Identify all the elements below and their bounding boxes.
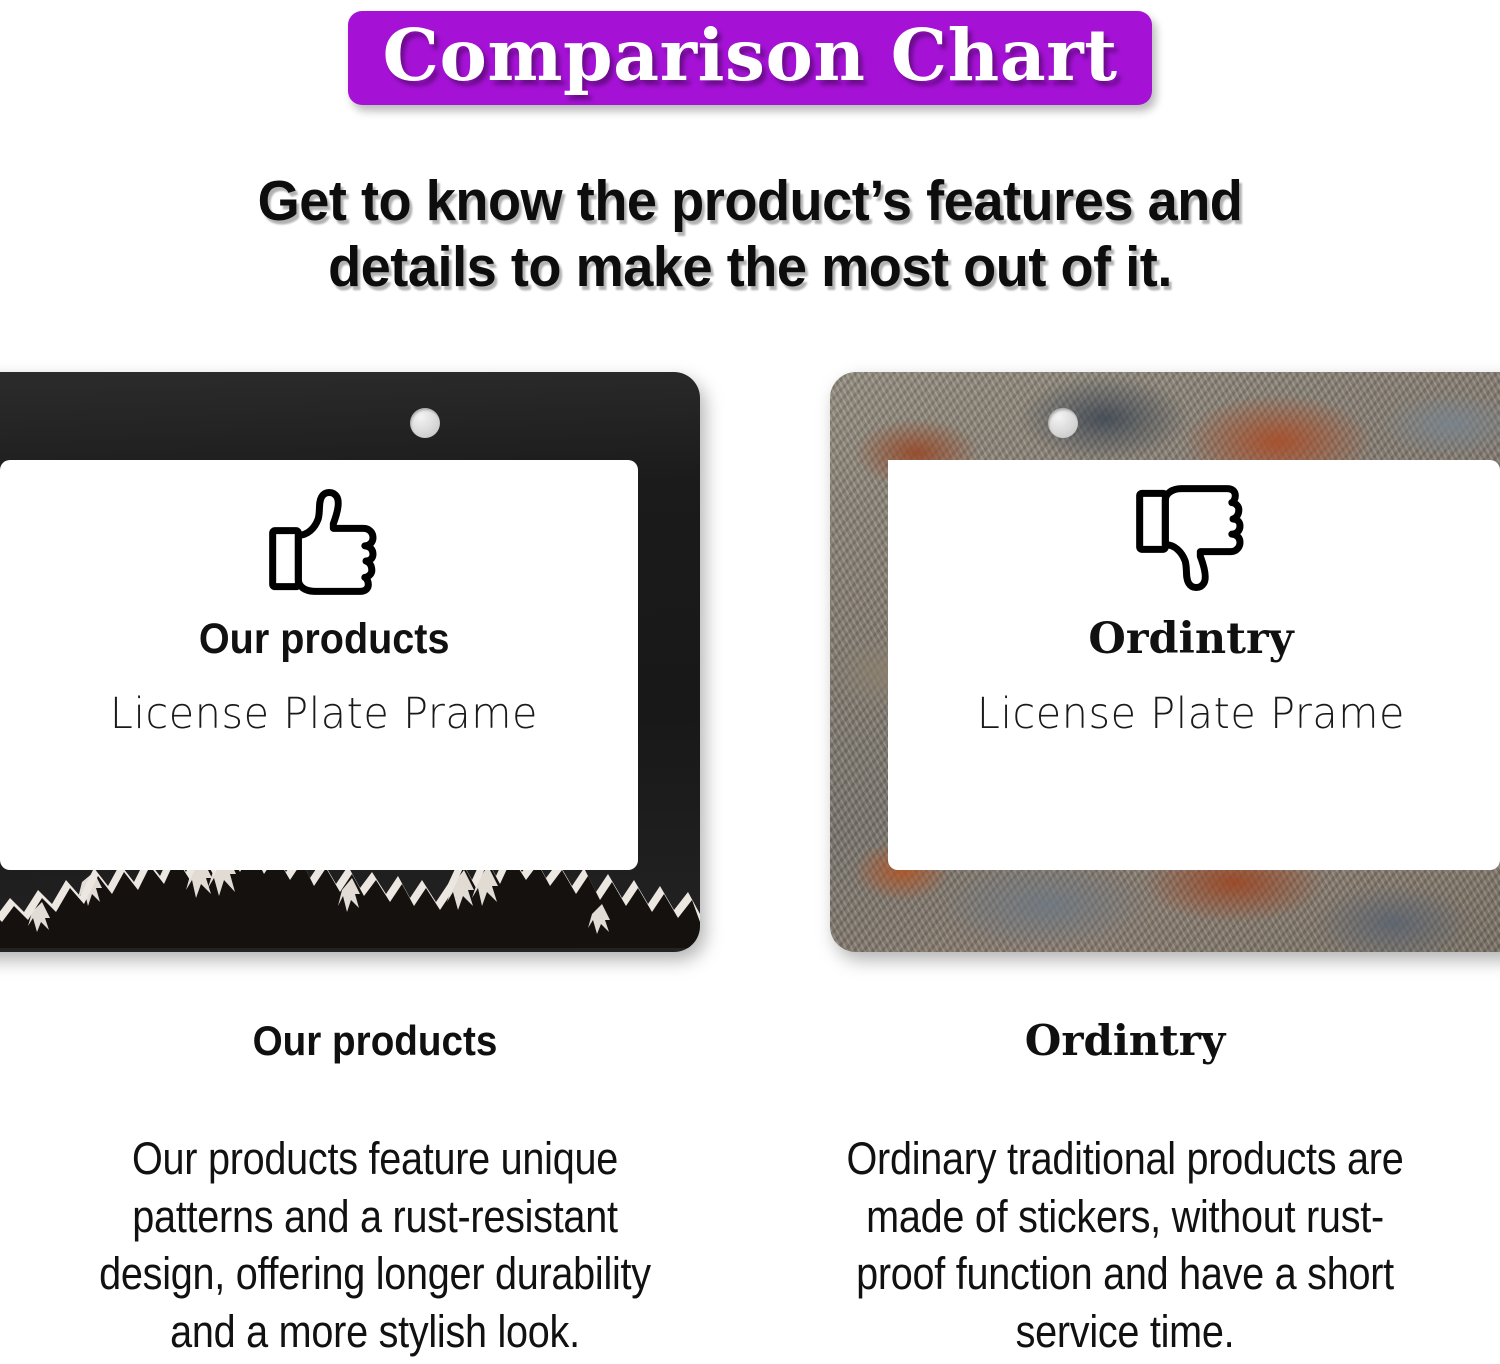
page-title: Comparison Chart [382, 20, 1117, 91]
ordinary-product-column: Ordintry Ordinary traditional products a… [750, 1020, 1500, 1364]
screw-hole [410, 408, 440, 438]
subtitle-line-1: Get to know the product’s features and [38, 168, 1463, 234]
our-product-frame-content: Our products License Plate Prame [0, 460, 700, 870]
product-frames-row: Our products License Plate Prame Ordintr… [0, 372, 1500, 972]
our-product-column-heading: Our products [61, 1020, 688, 1062]
our-product-column-body: Our products feature unique patterns and… [75, 1130, 675, 1360]
our-product-frame: Our products License Plate Prame [0, 372, 700, 952]
ordinary-product-heading: Ordintry [1088, 618, 1293, 661]
subtitle-line-2: details to make the most out of it. [38, 234, 1463, 300]
page-subtitle: Get to know the product’s features and d… [38, 168, 1463, 300]
description-columns: Our products Our products feature unique… [0, 1020, 1500, 1364]
title-banner-wrapper: Comparison Chart [0, 11, 1500, 105]
ordinary-product-frame-content: Ordintry License Plate Prame [830, 460, 1500, 870]
ordinary-product-frame: Ordintry License Plate Prame [830, 372, 1500, 952]
thumbs-down-icon [1132, 484, 1250, 596]
comparison-chart-page: Comparison Chart Get to know the product… [0, 0, 1500, 1364]
title-banner: Comparison Chart [348, 11, 1151, 105]
our-product-subheading: License Plate Prame [110, 693, 538, 736]
screw-hole [1048, 408, 1078, 438]
our-product-heading: Our products [199, 618, 450, 661]
ordinary-product-column-body: Ordinary traditional products are made o… [825, 1130, 1425, 1360]
our-product-column: Our products Our products feature unique… [0, 1020, 750, 1364]
ordinary-product-subheading: License Plate Prame [977, 693, 1405, 736]
thumbs-up-icon [265, 484, 383, 596]
ordinary-product-column-heading: Ordintry [784, 1020, 1466, 1062]
